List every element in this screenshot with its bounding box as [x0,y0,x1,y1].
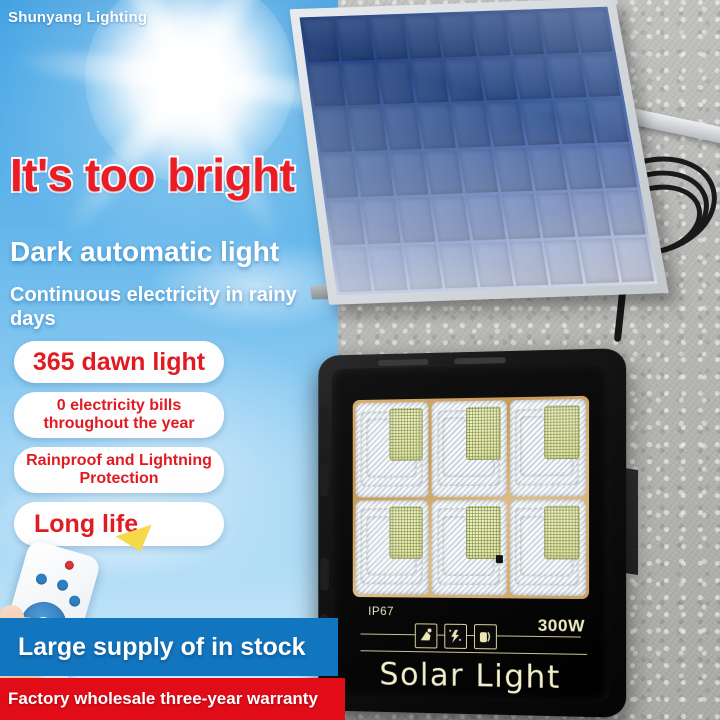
led-module [356,500,429,595]
stock-banner: Large supply of in stock [0,618,338,676]
solar-floodlight: IP67 300W Solar Light [308,352,720,720]
brand-logo: Shunyang Lighting [8,9,147,26]
solar-cell-grid [300,7,658,296]
solar-charge-icon [415,623,438,648]
light-sensor [496,555,503,563]
wattage-label: 300W [538,616,585,637]
led-module [432,400,507,496]
warranty-banner-text: Factory wholesale three-year warranty [8,689,318,709]
badge-365-dawn-light: 365 dawn light [14,341,224,383]
solar-panel [290,0,669,305]
led-module [510,399,586,496]
warranty-banner: Factory wholesale three-year warranty [0,678,345,720]
badge-rainproof-lightning: Rainproof and Lightning Protection [14,447,224,493]
badge-zero-electricity-bills: 0 electricity bills throughout the year [14,392,224,438]
led-module [356,402,429,497]
remote-control-icon [474,624,497,649]
light-housing: IP67 300W Solar Light [318,348,626,718]
feature-badge-list: 365 dawn light 0 electricity bills throu… [14,341,224,555]
led-module-array [353,396,589,599]
subheadline: Dark automatic light [10,236,279,268]
headline: It's too bright [10,148,295,202]
lightning-rain-icon [444,624,467,649]
product-advertisement: IP67 300W Solar Light Shunyang Lighting … [0,0,720,720]
stock-banner-text: Large supply of in stock [18,633,306,662]
product-name-label: Solar Light [318,655,626,697]
led-module [432,499,507,595]
ip-rating-label: IP67 [368,604,394,618]
led-module [510,499,586,596]
subheadline-secondary: Continuous electricity in rainy days [10,283,300,331]
feature-icon-row [415,623,497,649]
solar-panel-assembly [300,0,720,350]
